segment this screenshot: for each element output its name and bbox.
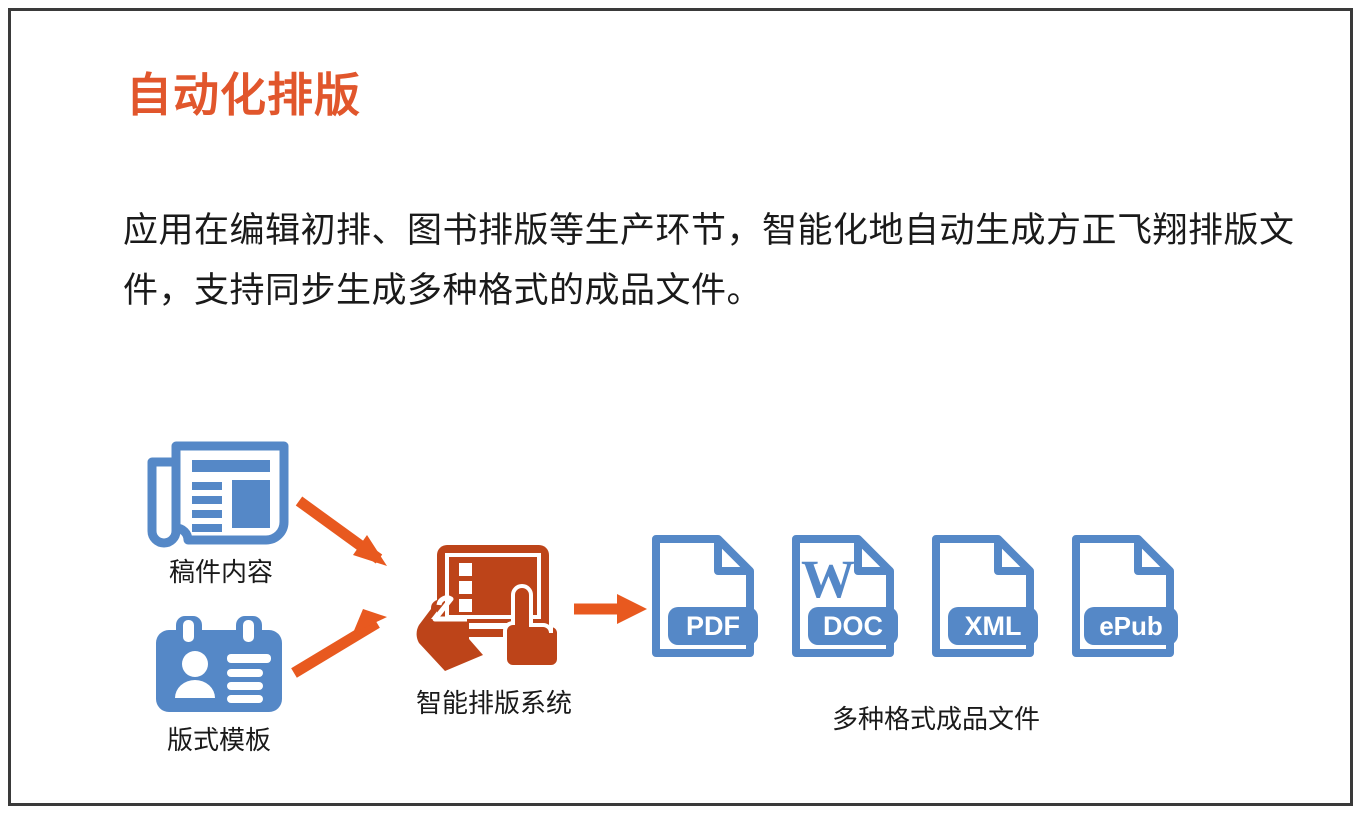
file-pdf-icon[interactable]: PDF	[646, 531, 762, 666]
diagram-outputs: PDF W DOC XML	[646, 531, 1226, 666]
file-label-doc: DOC	[823, 611, 883, 641]
diagram-node-manuscript-label: 稿件内容	[131, 552, 311, 589]
file-label-pdf: PDF	[686, 611, 740, 641]
id-card-icon	[129, 616, 309, 716]
diagram-node-system-label: 智能排版系统	[394, 683, 594, 720]
body-paragraph: 应用在编辑初排、图书排版等生产环节，智能化地自动生成方正飞翔排版文件，支持同步生…	[123, 201, 1303, 321]
outputs-caption: 多种格式成品文件	[646, 699, 1226, 736]
file-epub-icon[interactable]: ePub	[1066, 531, 1182, 666]
diagram-node-template[interactable]: 版式模板	[129, 616, 309, 757]
newspaper-icon	[131, 436, 311, 548]
file-doc-icon[interactable]: W DOC	[786, 531, 902, 666]
word-w-glyph: W	[801, 549, 855, 609]
file-label-epub: ePub	[1099, 611, 1163, 641]
slide-canvas: 自动化排版 应用在编辑初排、图书排版等生产环节，智能化地自动生成方正飞翔排版文件…	[8, 8, 1353, 806]
diagram-node-manuscript[interactable]: 稿件内容	[131, 436, 311, 589]
arrow-manuscript-to-system	[299, 501, 387, 566]
file-label-xml: XML	[965, 611, 1022, 641]
workflow-diagram: 稿件内容	[11, 411, 1350, 791]
page-title: 自动化排版	[126, 59, 361, 125]
tablet-touch-icon	[394, 539, 594, 679]
file-xml-icon[interactable]: XML	[926, 531, 1042, 666]
diagram-node-template-label: 版式模板	[129, 720, 309, 757]
diagram-node-system[interactable]: 智能排版系统	[394, 539, 594, 720]
